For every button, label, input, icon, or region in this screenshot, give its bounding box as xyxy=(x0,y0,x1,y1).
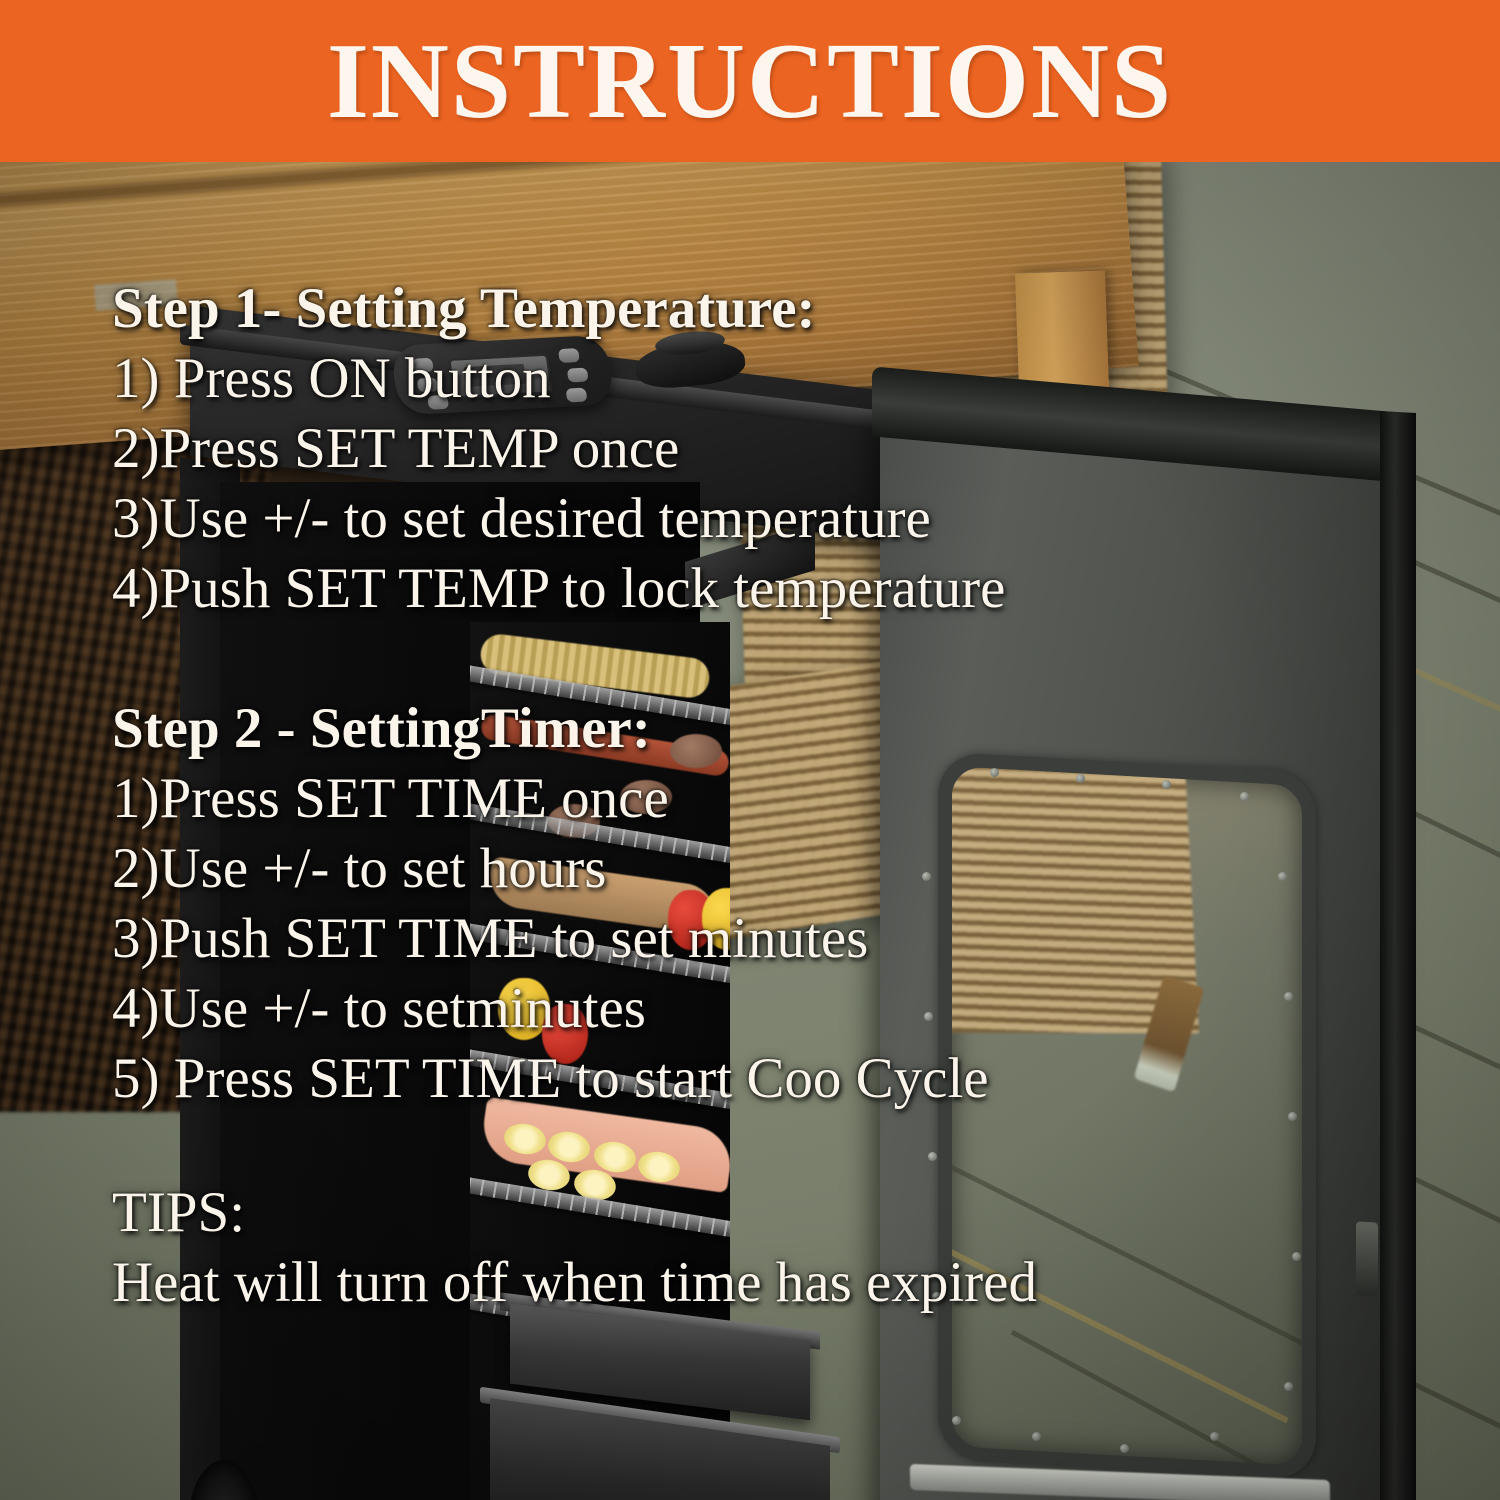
step1-item-1: 1) Press ON button xyxy=(112,350,551,407)
instructions-page: INSTRUCTIONS Step 1- Setting Temperature… xyxy=(0,0,1500,1500)
step2-item-1: 1)Press SET TIME once xyxy=(112,770,669,827)
header-banner: INSTRUCTIONS xyxy=(0,0,1500,162)
step2-item-5: 5) Press SET TIME to start Coo Cycle xyxy=(112,1050,989,1107)
tips-heading: TIPS: xyxy=(112,1184,245,1241)
step1-heading: Step 1- Setting Temperature: xyxy=(112,280,815,337)
step2-item-4: 4)Use +/- to setminutes xyxy=(112,980,646,1037)
step2-heading: Step 2 - SettingTimer: xyxy=(112,700,651,757)
tips-item-1: Heat will turn off when time has expired xyxy=(112,1254,1037,1311)
step1-item-4: 4)Push SET TEMP to lock temperature xyxy=(112,560,1005,617)
step2-item-2: 2)Use +/- to set hours xyxy=(112,840,606,897)
step2-item-3: 3)Push SET TIME to set minutes xyxy=(112,910,868,967)
step1-item-2: 2)Press SET TEMP once xyxy=(112,420,679,477)
page-title: INSTRUCTIONS xyxy=(0,28,1500,136)
instructions-text-overlay: Step 1- Setting Temperature: 1) Press ON… xyxy=(0,162,1500,1500)
step1-item-3: 3)Use +/- to set desired temperature xyxy=(112,490,931,547)
